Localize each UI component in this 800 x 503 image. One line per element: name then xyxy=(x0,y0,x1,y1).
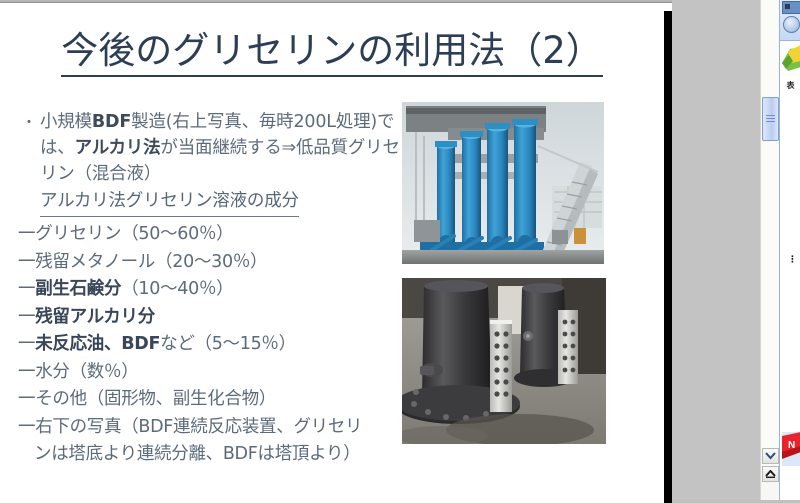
slide-area: 今後のグリセリンの利用法（2） ・ 小規模BDF製造(右上写真、毎時200L処理… xyxy=(0,3,672,500)
chevron-down-icon xyxy=(765,452,776,460)
photo-note-line2: ンは塔底より連続分離、BDFは塔頂より） xyxy=(18,441,408,469)
slide-canvas[interactable]: 今後のグリセリンの利用法（2） ・ 小規模BDF製造(右上写真、毎時200L処理… xyxy=(0,6,664,503)
clipart-thumbnail[interactable] xyxy=(780,41,800,76)
dash-6: 一 xyxy=(18,389,35,409)
list-item: 一グリセリン（50〜60％） xyxy=(18,221,408,249)
scroll-top-button[interactable] xyxy=(762,466,779,482)
red-banner-graphic[interactable]: N xyxy=(782,432,800,466)
vertical-scrollbar[interactable] xyxy=(760,0,780,500)
task-pane-ellipsis: ⋮ xyxy=(788,258,797,263)
bold-4: 未反応油、BDF xyxy=(35,334,160,354)
list-item: 一その他（固形物、副生化合物） xyxy=(18,386,408,414)
photo-note-line1: 一右下の写真（BDF連続反応装置、グリセリ xyxy=(18,417,362,437)
globe-icon[interactable] xyxy=(783,16,800,33)
task-pane-label: 表 xyxy=(780,80,800,91)
plain-5: 水分（数％） xyxy=(35,362,138,382)
scroll-down-button[interactable] xyxy=(762,448,779,464)
dash-1: 一 xyxy=(18,252,35,272)
task-pane-toolbar[interactable] xyxy=(780,0,800,41)
list-item: 一残留アルカリ分 xyxy=(18,304,408,332)
dash-2: 一 xyxy=(18,279,35,299)
bold-3: 残留アルカリ分 xyxy=(35,307,155,327)
plain-1: 残留メタノール（20〜30％） xyxy=(35,252,267,272)
slide-title: 今後のグリセリンの利用法（2） xyxy=(0,32,664,77)
photo-bdf-reactor-columns[interactable] xyxy=(402,102,604,264)
slide-title-text: 今後のグリセリンの利用法（2） xyxy=(61,32,603,77)
plain-0: グリセリン（50〜60％） xyxy=(35,224,233,244)
powerpoint-window: 今後のグリセリンの利用法（2） ・ 小規模BDF製造(右上写真、毎時200L処理… xyxy=(0,0,800,500)
slide-right-border xyxy=(664,11,672,503)
main-bullet-row: ・ 小規模BDF製造(右上写真、毎時200L処理)では、アルカリ法が当面継続する… xyxy=(18,109,408,187)
scrollbar-thumb[interactable] xyxy=(762,97,779,141)
photo-continuous-reactor[interactable] xyxy=(402,278,606,444)
plain-4: など（5〜15％） xyxy=(160,334,296,354)
clipart-icon xyxy=(780,41,800,76)
composition-list: 一グリセリン（50〜60％） 一残留メタノール（20〜30％） 一副生石鹸分（1… xyxy=(18,221,408,469)
list-item: 一残留メタノール（20〜30％） xyxy=(18,249,408,277)
photo-bottom-graphic xyxy=(402,278,606,444)
list-item: 一副生石鹸分（10〜40％） xyxy=(18,276,408,304)
bullet-seg-1: BDF xyxy=(92,112,131,132)
bullet-seg-0: 小規模 xyxy=(40,112,92,132)
plain-2: （10〜40％） xyxy=(121,279,233,299)
chevron-up-icon xyxy=(765,470,776,478)
subheading-composition: アルカリ法グリセリン溶液の成分 xyxy=(40,188,299,217)
photo-top-graphic xyxy=(402,102,604,264)
dash-4: 一 xyxy=(18,334,35,354)
list-item: 一未反応油、BDFなど（5〜15％） xyxy=(18,331,408,359)
svg-text:N: N xyxy=(788,440,795,451)
bullet-marker: ・ xyxy=(18,109,40,135)
plain-6: その他（固形物、副生化合物） xyxy=(35,389,276,409)
list-item: 一水分（数％） xyxy=(18,359,408,387)
bold-2: 副生石鹸分 xyxy=(35,279,121,299)
task-pane[interactable]: 表 ⋮ N xyxy=(779,0,800,500)
slide-thumbnail-icon[interactable] xyxy=(782,1,800,14)
ribbon-icon: N xyxy=(782,432,800,466)
slide-body: ・ 小規模BDF製造(右上写真、毎時200L処理)では、アルカリ法が当面継続する… xyxy=(18,109,408,469)
scrollbar-track[interactable] xyxy=(762,0,778,470)
dash-0: 一 xyxy=(18,224,35,244)
main-bullet-text: 小規模BDF製造(右上写真、毎時200L処理)では、アルカリ法が当面継続する⇒低… xyxy=(40,109,408,187)
dash-3: 一 xyxy=(18,307,35,327)
dash-5: 一 xyxy=(18,362,35,382)
list-item-photo-note: 一右下の写真（BDF連続反応装置、グリセリ ンは塔底より連続分離、BDFは塔頂よ… xyxy=(18,414,408,469)
bullet-seg-3: アルカリ法 xyxy=(75,138,161,158)
